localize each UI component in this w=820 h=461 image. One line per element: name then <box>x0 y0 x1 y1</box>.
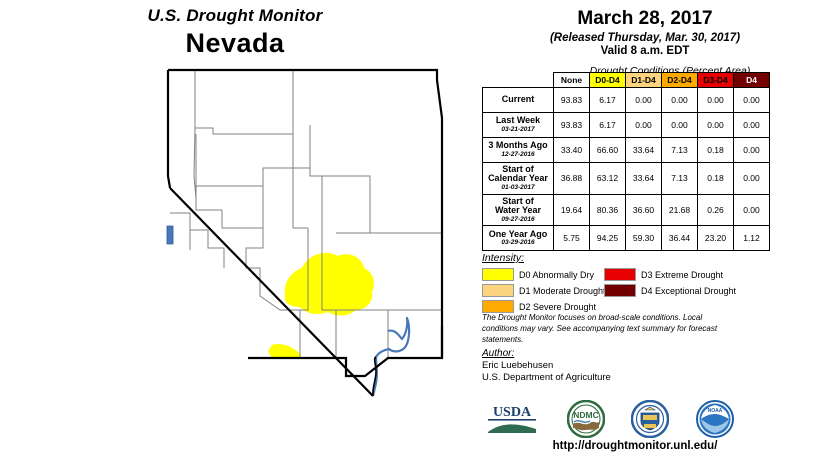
table-cell: 93.83 <box>554 88 590 113</box>
unl-logo <box>631 400 669 438</box>
table-cell: 6.17 <box>590 113 626 138</box>
table-cell: 0.00 <box>626 88 662 113</box>
table-cell: 0.00 <box>698 88 734 113</box>
author-label: Author: <box>482 348 611 359</box>
table-col-header-none: None <box>554 73 590 88</box>
legend-entry-d0: D0 Abnormally Dry <box>482 268 600 281</box>
drought-conditions-table: NoneD0-D4D1-D4D2-D4D3-D4D4 Current93.836… <box>482 72 770 251</box>
table-row-header: Start ofCalendar Year01-03-2017 <box>483 163 554 195</box>
table-row-date: 03-29-2016 <box>484 240 552 247</box>
table-cell: 0.00 <box>662 88 698 113</box>
legend-entry-d1: D1 Moderate Drought <box>482 284 600 297</box>
table-row-date: 01-03-2017 <box>484 185 552 192</box>
table-cell: 7.13 <box>662 163 698 195</box>
legend-entry-d3: D3 Extreme Drought <box>604 268 812 281</box>
date-block: March 28, 2017 (Released Thursday, Mar. … <box>470 0 820 77</box>
svg-text:NDMC: NDMC <box>573 410 599 420</box>
map-panel: U.S. Drought Monitor Nevada <box>0 0 470 461</box>
nevada-state-map <box>150 58 460 408</box>
legend-swatch-d3 <box>604 268 636 281</box>
table-cell: 33.64 <box>626 138 662 163</box>
author-block: Author: Eric Luebehusen U.S. Department … <box>482 348 611 383</box>
table-cell: 0.00 <box>734 163 770 195</box>
intensity-legend: Intensity: D0 Abnormally DryD3 Extreme D… <box>482 252 812 313</box>
table-row-date: 09-27-2016 <box>484 217 552 224</box>
table-cell: 36.88 <box>554 163 590 195</box>
table-row-date: 03-21-2017 <box>484 127 552 134</box>
table-cell: 93.83 <box>554 113 590 138</box>
table-cell: 33.64 <box>626 163 662 195</box>
svg-text:USDA: USDA <box>493 405 532 420</box>
table-cell: 1.12 <box>734 226 770 251</box>
author-org: U.S. Department of Agriculture <box>482 372 611 383</box>
table-cell: 19.64 <box>554 194 590 226</box>
state-outline-north-east <box>168 70 442 376</box>
legend-label-d4: D4 Exceptional Drought <box>641 286 736 296</box>
table-cell: 63.12 <box>590 163 626 195</box>
legend-entry-d4: D4 Exceptional Drought <box>604 284 812 297</box>
legend-swatch-d4 <box>604 284 636 297</box>
table-row: Start ofWater Year09-27-201619.6480.3636… <box>483 194 770 226</box>
table-col-header-d3-d4: D3-D4 <box>698 73 734 88</box>
table-col-header-d0-d4: D0-D4 <box>590 73 626 88</box>
legend-label-d3: D3 Extreme Drought <box>641 270 723 280</box>
table-cell: 21.68 <box>662 194 698 226</box>
table-col-header-d1-d4: D1-D4 <box>626 73 662 88</box>
legend-grid: D0 Abnormally DryD3 Extreme DroughtD1 Mo… <box>482 268 812 313</box>
logo-row: USDA NDMC NOAA <box>484 396 734 442</box>
table-row-header: 3 Months Ago12-27-2016 <box>483 138 554 163</box>
legend-label-d1: D1 Moderate Drought <box>519 286 606 296</box>
table-row-date: 12-27-2016 <box>484 152 552 159</box>
issue-date: March 28, 2017 <box>470 8 820 30</box>
svg-text:NOAA: NOAA <box>708 408 723 414</box>
table-cell: 0.00 <box>698 113 734 138</box>
table-row: One Year Ago03-29-20165.7594.2559.3036.4… <box>483 226 770 251</box>
table-cell: 0.00 <box>734 194 770 226</box>
table-corner-cell <box>483 73 554 88</box>
table-cell: 36.44 <box>662 226 698 251</box>
table-cell: 0.00 <box>626 113 662 138</box>
table-row: Current93.836.170.000.000.000.00 <box>483 88 770 113</box>
ndmc-logo: NDMC <box>567 400 605 438</box>
info-panel: March 28, 2017 (Released Thursday, Mar. … <box>470 0 820 461</box>
table-cell: 0.00 <box>662 113 698 138</box>
intensity-label: Intensity: <box>482 252 812 264</box>
page-title: U.S. Drought Monitor <box>0 6 470 26</box>
table-cell: 36.60 <box>626 194 662 226</box>
table-cell: 5.75 <box>554 226 590 251</box>
table-row: 3 Months Ago12-27-201633.4066.6033.647.1… <box>483 138 770 163</box>
table-cell: 59.30 <box>626 226 662 251</box>
legend-label-d2: D2 Severe Drought <box>519 302 596 312</box>
usda-logo: USDA <box>484 402 540 436</box>
author-name: Eric Luebehusen <box>482 360 611 371</box>
table-cell: 0.18 <box>698 138 734 163</box>
table-cell: 0.00 <box>734 88 770 113</box>
table-row-header: Current <box>483 88 554 113</box>
state-name-title: Nevada <box>0 28 470 59</box>
table-header-row: NoneD0-D4D1-D4D2-D4D3-D4D4 <box>483 73 770 88</box>
county-boundaries <box>170 71 442 358</box>
table-row: Last Week03-21-201793.836.170.000.000.00… <box>483 113 770 138</box>
site-url[interactable]: http://droughtmonitor.unl.edu/ <box>470 440 800 452</box>
table-col-header-d4: D4 <box>734 73 770 88</box>
table-cell: 0.18 <box>698 163 734 195</box>
valid-time: Valid 8 a.m. EDT <box>470 45 820 57</box>
table-cell: 23.20 <box>698 226 734 251</box>
table-cell: 0.00 <box>734 138 770 163</box>
table-row-header: Last Week03-21-2017 <box>483 113 554 138</box>
table-cell: 0.00 <box>734 113 770 138</box>
legend-label-d0: D0 Abnormally Dry <box>519 270 594 280</box>
table-row: Start ofCalendar Year01-03-201736.8863.1… <box>483 163 770 195</box>
table-col-header-d2-d4: D2-D4 <box>662 73 698 88</box>
disclaimer-text: The Drought Monitor focuses on broad-sca… <box>482 312 722 345</box>
legend-swatch-d0 <box>482 268 514 281</box>
table-cell: 94.25 <box>590 226 626 251</box>
state-outline-northwest <box>168 70 170 188</box>
table-cell: 66.60 <box>590 138 626 163</box>
table-row-header: One Year Ago03-29-2016 <box>483 226 554 251</box>
legend-swatch-d1 <box>482 284 514 297</box>
table-cell: 80.36 <box>590 194 626 226</box>
lake-tahoe <box>167 226 173 244</box>
noaa-logo: NOAA <box>696 400 734 438</box>
title-block: U.S. Drought Monitor Nevada <box>0 6 470 59</box>
table-row-header: Start ofWater Year09-27-2016 <box>483 194 554 226</box>
table-body: Current93.836.170.000.000.000.00Last Wee… <box>483 88 770 251</box>
table-cell: 6.17 <box>590 88 626 113</box>
table-cell: 7.13 <box>662 138 698 163</box>
table-cell: 33.40 <box>554 138 590 163</box>
table-cell: 0.26 <box>698 194 734 226</box>
release-date: (Released Thursday, Mar. 30, 2017) <box>470 32 820 44</box>
